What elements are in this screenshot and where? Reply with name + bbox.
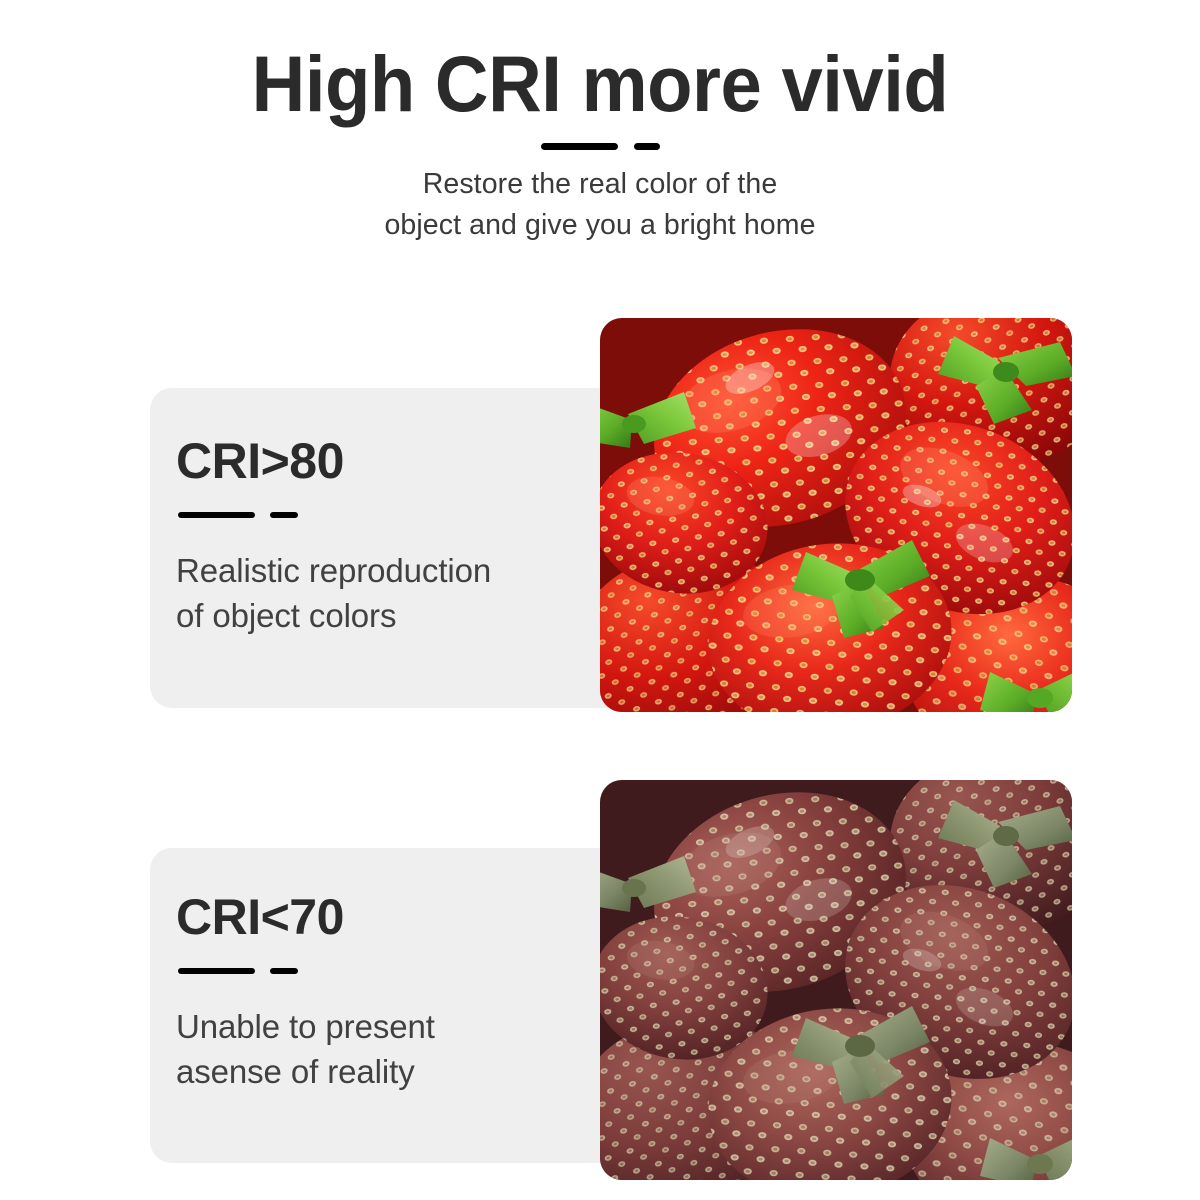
card-body-high-cri: Realistic reproduction of object colors: [176, 548, 606, 638]
divider-short-bar: [270, 968, 298, 974]
page-subtitle: Restore the real color of the object and…: [0, 164, 1200, 247]
divider-long-bar: [178, 512, 255, 518]
subtitle-line-1: Restore the real color of the: [423, 168, 778, 200]
subtitle-line-2: object and give you a bright home: [384, 209, 815, 241]
comparison-card-high-cri: CRI>80 Realistic reproduction of object …: [150, 388, 670, 708]
card-heading-high-cri: CRI>80: [176, 436, 670, 486]
strawberries-vivid-photo: [600, 318, 1072, 712]
comparison-card-low-cri: CRI<70 Unable to present asense of reali…: [150, 848, 670, 1163]
card-body-line-2: of object colors: [176, 597, 396, 634]
page-title: High CRI more vivid: [36, 0, 1164, 123]
card-body-line-1: Realistic reproduction: [176, 552, 491, 589]
dash-divider-icon: [178, 968, 670, 974]
card-heading-low-cri: CRI<70: [176, 892, 670, 942]
dash-divider-icon: [0, 143, 1200, 150]
strawberries-dull-illustration: [600, 780, 1072, 1180]
card-body-line-2: asense of reality: [176, 1053, 415, 1090]
strawberries-vivid-illustration: [600, 318, 1072, 712]
divider-long-bar: [541, 143, 618, 150]
divider-short-bar: [270, 512, 298, 518]
divider-short-bar: [634, 143, 660, 150]
dash-divider-icon: [178, 512, 670, 518]
card-body-line-1: Unable to present: [176, 1008, 435, 1045]
header: High CRI more vivid Restore the real col…: [0, 0, 1200, 247]
divider-long-bar: [178, 968, 255, 974]
strawberries-dull-photo: [600, 780, 1072, 1180]
card-body-low-cri: Unable to present asense of reality: [176, 1004, 606, 1094]
